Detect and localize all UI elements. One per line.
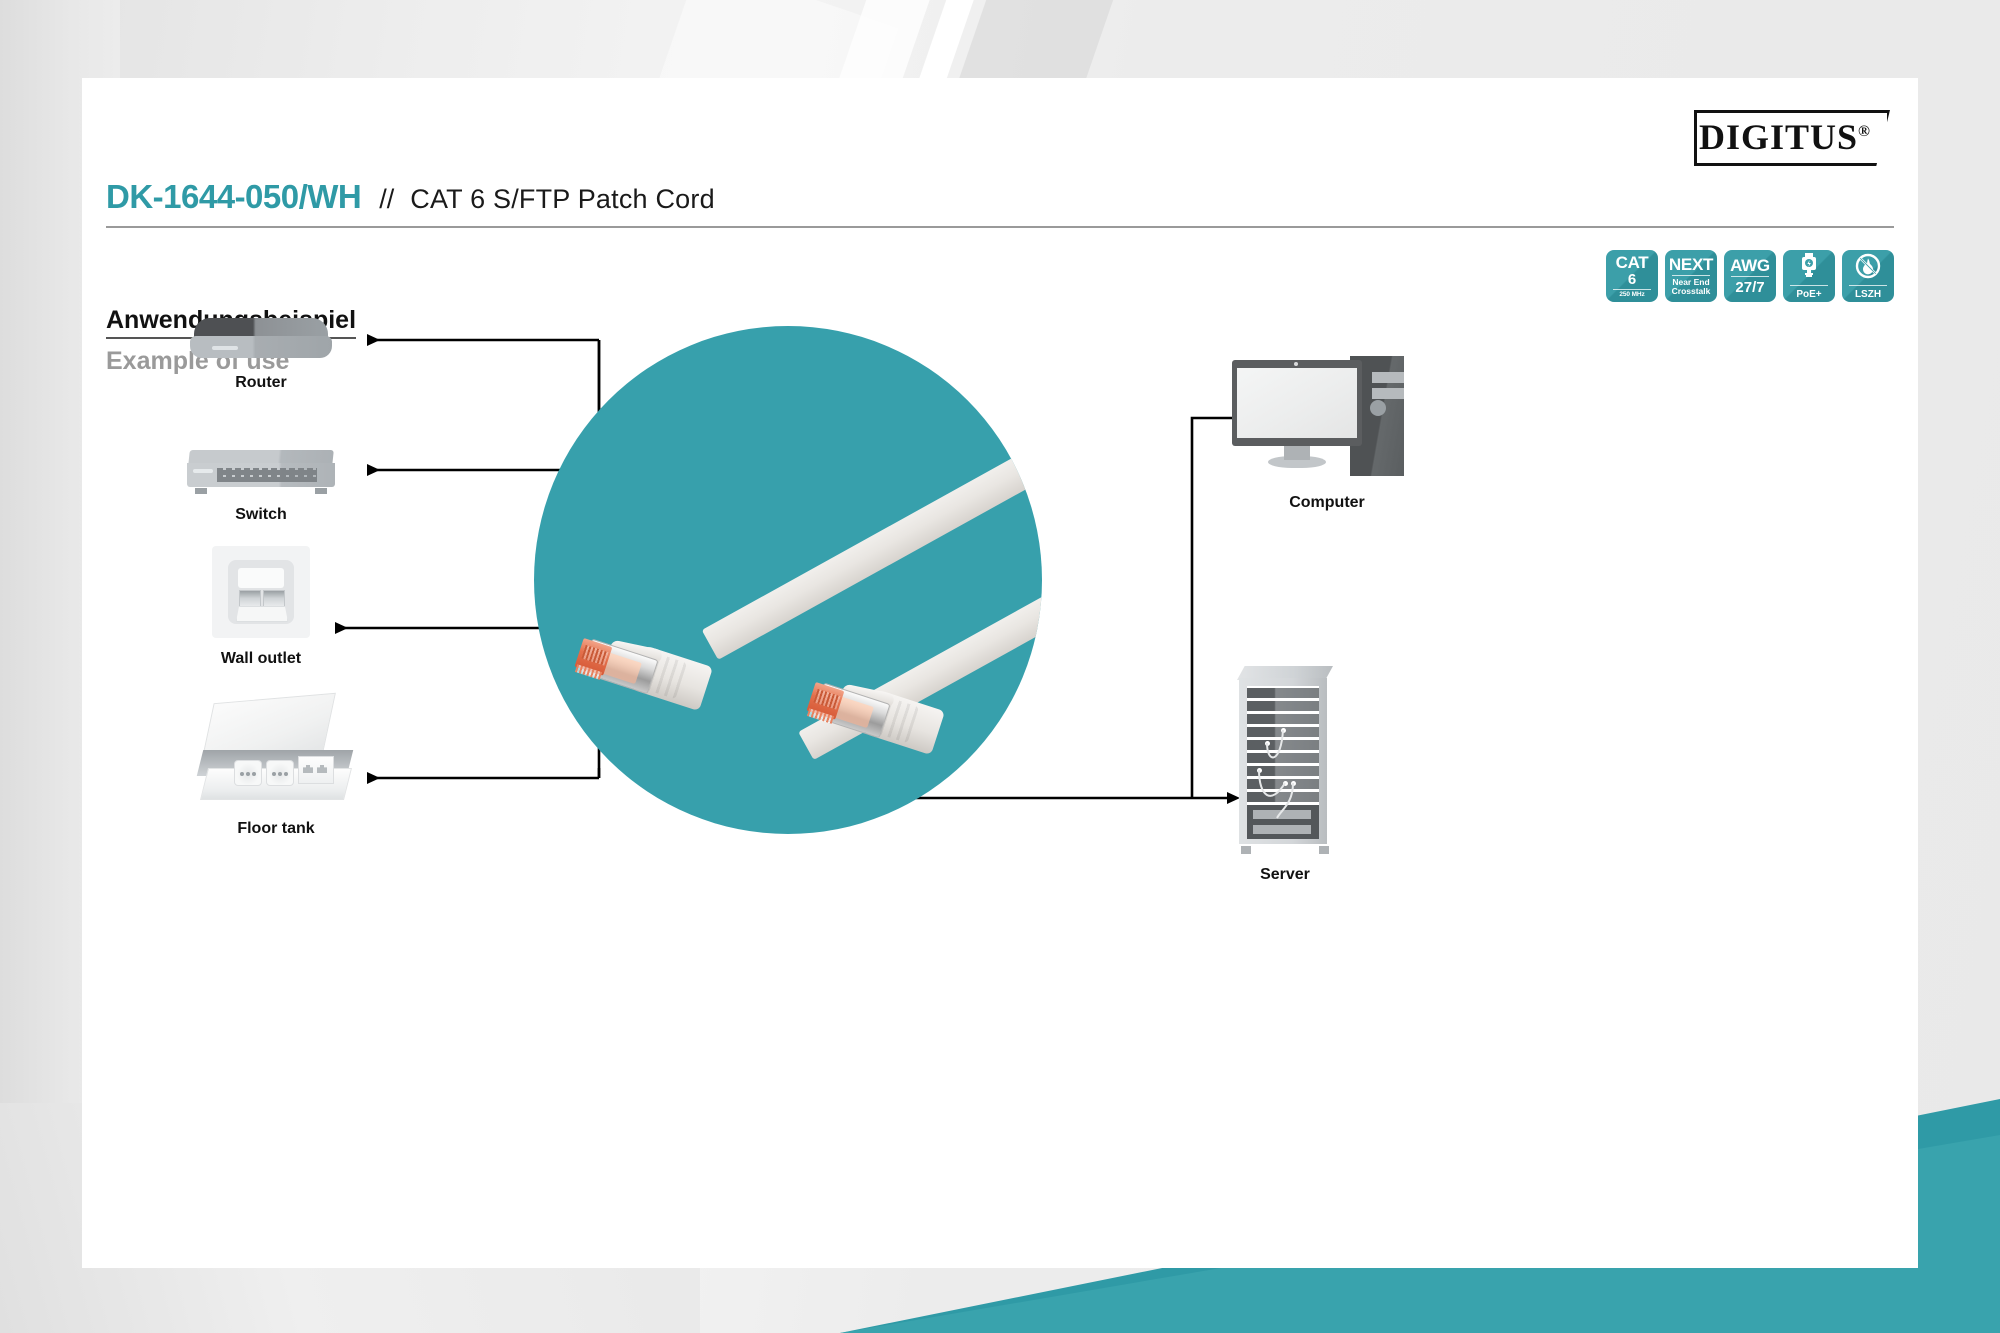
- router-icon: [190, 318, 332, 362]
- computer-icon: [1232, 356, 1422, 482]
- content-card: DIGITUS® DK-1644-050/WH // CAT 6 S/FTP P…: [82, 78, 1918, 1268]
- node-computer-label: Computer: [1289, 494, 1365, 512]
- application-diagram: Router Switch: [82, 78, 1918, 1268]
- node-server-label: Server: [1260, 866, 1310, 884]
- server-icon: [1237, 666, 1333, 854]
- node-switch-label: Switch: [235, 506, 287, 524]
- node-computer[interactable]: Computer: [1232, 356, 1422, 512]
- connector-pins: [813, 689, 840, 710]
- rj45-connector-left: [575, 627, 715, 713]
- datasheet-page: DIGITUS® DK-1644-050/WH // CAT 6 S/FTP P…: [0, 0, 2000, 1333]
- floor-tank-icon: [194, 698, 358, 808]
- cable-segment-left: [702, 397, 1042, 659]
- node-floor-tank[interactable]: Floor tank: [194, 698, 358, 838]
- product-photo-circle: [534, 326, 1042, 834]
- node-router[interactable]: Router: [190, 318, 332, 392]
- node-router-label: Router: [235, 374, 287, 392]
- node-wall-outlet-label: Wall outlet: [221, 650, 301, 668]
- node-switch[interactable]: Switch: [187, 448, 335, 524]
- patch-cables: [1247, 686, 1319, 836]
- node-floor-tank-label: Floor tank: [237, 820, 314, 838]
- node-server[interactable]: Server: [1237, 666, 1333, 884]
- wall-outlet-icon: [212, 546, 310, 638]
- switch-icon: [187, 448, 335, 494]
- node-wall-outlet[interactable]: Wall outlet: [212, 546, 310, 668]
- connector-pins: [581, 645, 608, 666]
